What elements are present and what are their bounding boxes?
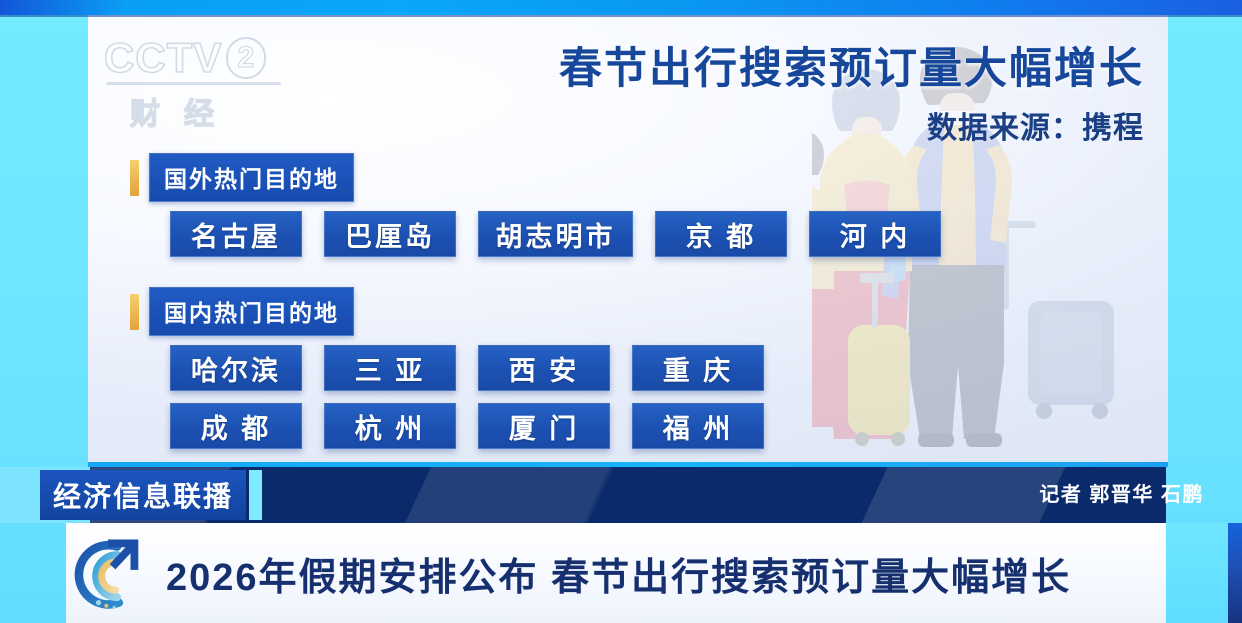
destination-chip[interactable]: 福 州 (632, 403, 764, 449)
gold-accent-bar-domestic (130, 294, 139, 330)
lower-right-cyan-tail (1166, 523, 1228, 623)
section-label-domestic-text: 国内热门目的地 (149, 287, 354, 336)
destination-chip[interactable]: 重 庆 (632, 345, 764, 391)
chip-row-domestic-1: 哈尔滨 三 亚 西 安 重 庆 (170, 345, 764, 391)
infographic-panel: CCTV2 财经 (88, 15, 1168, 467)
program-badge-accent (249, 470, 262, 520)
section-label-overseas: 国外热门目的地 (130, 153, 354, 202)
headline-text: 2026年假期安排公布 春节出行搜索预订量大幅增长 (166, 546, 1071, 601)
headline-bar: 2026年假期安排公布 春节出行搜索预订量大幅增长 (66, 523, 1166, 623)
watermark-subtitle: 财经 (130, 89, 284, 133)
graphic-heading-block: 春节出行搜索预订量大幅增长 数据来源：携程 (559, 45, 1144, 147)
gold-accent-bar-overseas (130, 160, 139, 196)
section-label-overseas-text: 国外热门目的地 (149, 153, 354, 202)
top-blue-strip (0, 0, 1242, 15)
destination-chip[interactable]: 成 都 (170, 403, 302, 449)
destination-chip[interactable]: 胡志明市 (478, 211, 633, 257)
section-label-domestic: 国内热门目的地 (130, 287, 354, 336)
graphic-title: 春节出行搜索预订量大幅增长 (559, 45, 1144, 93)
reporter-credits: 记者 郭晋华 石鹏 (1039, 467, 1204, 523)
destination-chip[interactable]: 名古屋 (170, 211, 302, 257)
watermark-underline (106, 82, 281, 85)
broadcast-frame: CCTV2 财经 (0, 0, 1242, 623)
lower-third: 经济信息联播 记者 郭晋华 石鹏 (0, 467, 1242, 623)
cctv2-watermark-logo: CCTV2 财经 (104, 37, 284, 142)
destination-chip[interactable]: 西 安 (478, 345, 610, 391)
swoosh-arrow-logo-icon (72, 534, 150, 612)
program-badge: 经济信息联播 (40, 470, 262, 520)
destination-chip[interactable]: 杭 州 (324, 403, 456, 449)
lower-right-blue-tail (1228, 523, 1242, 623)
graphic-data-source: 数据来源：携程 (559, 103, 1144, 147)
destination-chip[interactable]: 京 都 (655, 211, 787, 257)
destination-chip[interactable]: 厦 门 (478, 403, 610, 449)
destination-chip[interactable]: 巴厘岛 (324, 211, 456, 257)
destination-chip[interactable]: 哈尔滨 (170, 345, 302, 391)
destination-chip[interactable]: 三 亚 (324, 345, 456, 391)
destination-chip[interactable]: 河 内 (809, 211, 941, 257)
chip-row-domestic-2: 成 都 杭 州 厦 门 福 州 (170, 403, 764, 449)
program-name-text: 经济信息联播 (40, 470, 246, 520)
watermark-channel-number: 2 (226, 37, 266, 79)
watermark-channel-text: CCTV (104, 34, 222, 81)
chip-row-overseas: 名古屋 巴厘岛 胡志明市 京 都 河 内 (170, 211, 941, 257)
